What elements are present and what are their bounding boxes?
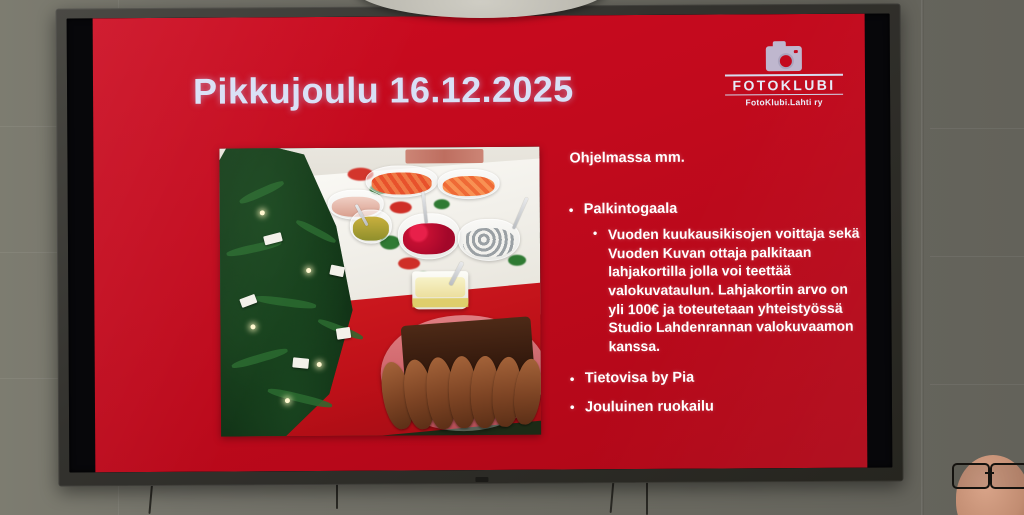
bullet-text: Tietovisa by Pia [585, 370, 694, 387]
bullet-item-4: • Jouluinen ruokailu [563, 396, 863, 417]
bullet-item-3: • Tietovisa by Pia [563, 368, 863, 389]
tv-brand-mark [475, 477, 488, 482]
logo-wordmark: FOTOKLUBI [725, 74, 843, 95]
logo-subtitle: FotoKlubi.Lahti ry [725, 96, 843, 107]
bullet-list: • Palkintogaala • Vuoden kuukausikisojen… [562, 199, 863, 417]
bullet-text: Palkintogaala [584, 201, 678, 218]
bullet-glyph: • [569, 201, 574, 218]
slide-body: Ohjelmassa mm. • Palkintogaala • Vuoden … [561, 149, 863, 423]
bullet-glyph: • [593, 226, 597, 242]
eyeglasses [952, 463, 1022, 489]
presentation-slide: Pikkujoulu 16.12.2025 FOTOKLUBI FotoKlub… [93, 14, 868, 473]
page-title: Pikkujoulu 16.12.2025 [193, 68, 574, 112]
bullet-item-1: • Palkintogaala [562, 199, 862, 220]
slide-photo [219, 147, 541, 437]
tv-cable [646, 480, 648, 515]
bullet-glyph: • [570, 399, 575, 416]
room-scene: Pikkujoulu 16.12.2025 FOTOKLUBI FotoKlub… [0, 0, 1024, 515]
bullet-text: Jouluinen ruokailu [585, 398, 714, 415]
tv-screen: Pikkujoulu 16.12.2025 FOTOKLUBI FotoKlub… [67, 13, 893, 472]
fotoklubi-logo: FOTOKLUBI FotoKlubi.Lahti ry [725, 46, 843, 107]
butter-tub [412, 271, 468, 309]
body-lead: Ohjelmassa mm. [569, 149, 861, 167]
bullet-text: Vuoden kuukausikisojen voittaja sekä Vuo… [608, 225, 860, 354]
television: Pikkujoulu 16.12.2025 FOTOKLUBI FotoKlub… [56, 3, 904, 486]
bullet-item-2: • Vuoden kuukausikisojen voittaja sekä V… [562, 224, 863, 356]
camera-icon [766, 46, 802, 71]
bullet-glyph: • [570, 370, 575, 387]
tv-cable [336, 481, 338, 509]
